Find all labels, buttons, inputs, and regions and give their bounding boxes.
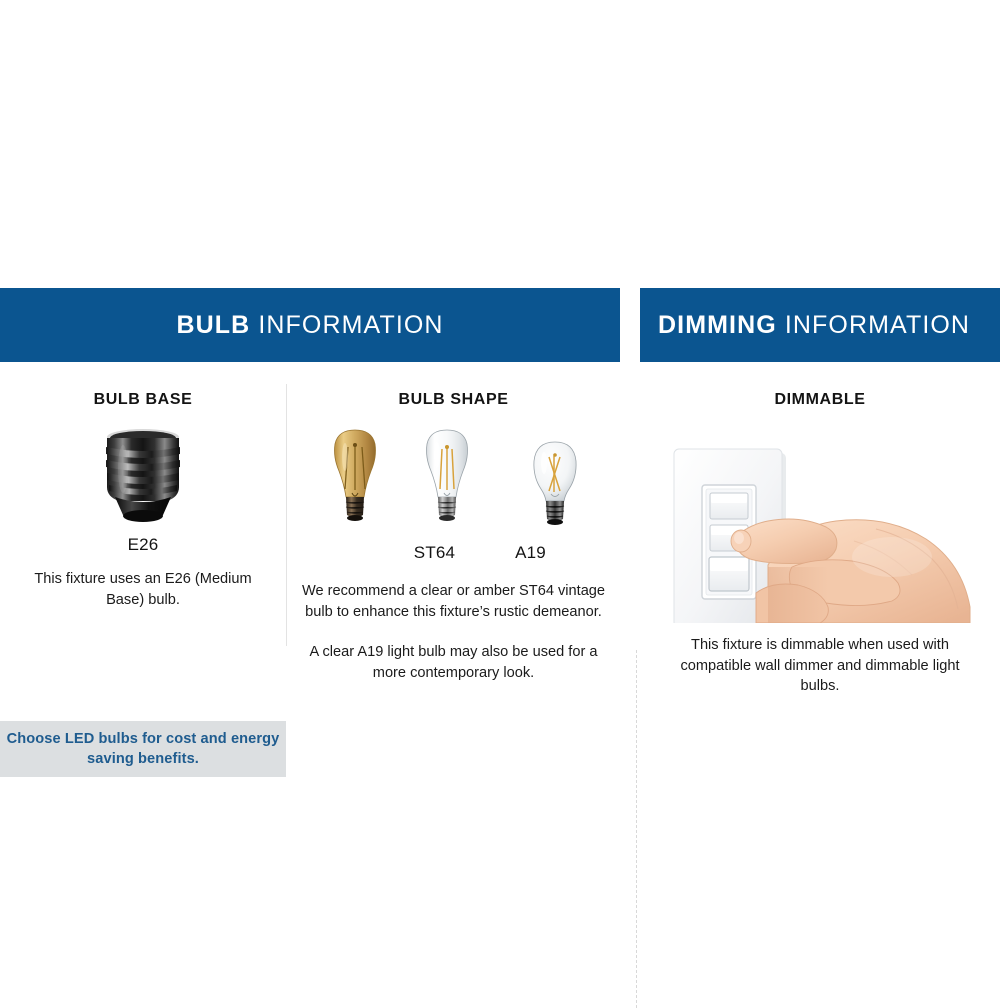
bulb-header-strong-word: BULB	[176, 311, 250, 339]
led-callout-text: Choose LED bulbs for cost and energy sav…	[0, 729, 286, 769]
bulb-shape-labels-row: ST64 A19	[287, 543, 620, 563]
a19-label: A19	[481, 543, 581, 563]
dimming-header-light-word: INFORMATION	[785, 311, 970, 339]
bulb-information-header: BULB INFORMATION	[0, 288, 620, 362]
led-callout-box: Choose LED bulbs for cost and energy sav…	[0, 721, 286, 777]
dimming-description: This fixture is dimmable when used with …	[662, 635, 978, 697]
bulb-base-description: This fixture uses an E26 (Medium Base) b…	[22, 569, 264, 610]
bulb-shape-paragraph-1: We recommend a clear or amber ST64 vinta…	[301, 581, 606, 622]
bulb-shape-paragraph-2: A clear A19 light bulb may also be used …	[301, 642, 606, 683]
bulb-header-light-word: INFORMATION	[258, 311, 443, 339]
bulb-base-column: BULB BASE	[0, 362, 286, 610]
bulb-base-title: BULB BASE	[0, 391, 286, 409]
dimming-header-strong-word: DIMMING	[658, 311, 777, 339]
bulb-information-body: BULB BASE	[0, 362, 620, 720]
bulb-and-dimming-infographic: BULB INFORMATION BULB BASE	[0, 288, 1000, 720]
st64-amber-bulb-image	[324, 427, 386, 539]
dimmable-title: DIMMABLE	[640, 391, 1000, 409]
dimming-information-header-title: DIMMING INFORMATION	[658, 311, 970, 340]
e26-screw-base-image	[0, 427, 286, 527]
st64-label: ST64	[389, 543, 481, 563]
bulb-shape-title: BULB SHAPE	[287, 391, 620, 409]
bulb-information-panel: BULB INFORMATION BULB BASE	[0, 288, 620, 720]
wall-dimmer-with-hand-image	[640, 417, 1000, 623]
bulb-shape-images-row	[287, 421, 620, 539]
dimming-information-body: DIMMABLE	[640, 391, 1000, 749]
bulb-shape-column: BULB SHAPE	[287, 362, 620, 683]
panel-dashed-divider	[636, 650, 638, 1008]
st64-clear-bulb-image	[416, 427, 478, 539]
dimming-information-header: DIMMING INFORMATION	[640, 288, 1000, 362]
a19-clear-bulb-image	[526, 439, 584, 539]
bulb-information-header-title: BULB INFORMATION	[176, 311, 443, 340]
dimming-information-panel: DIMMING INFORMATION DIMMABLE	[640, 288, 1000, 749]
e26-label: E26	[0, 535, 286, 555]
